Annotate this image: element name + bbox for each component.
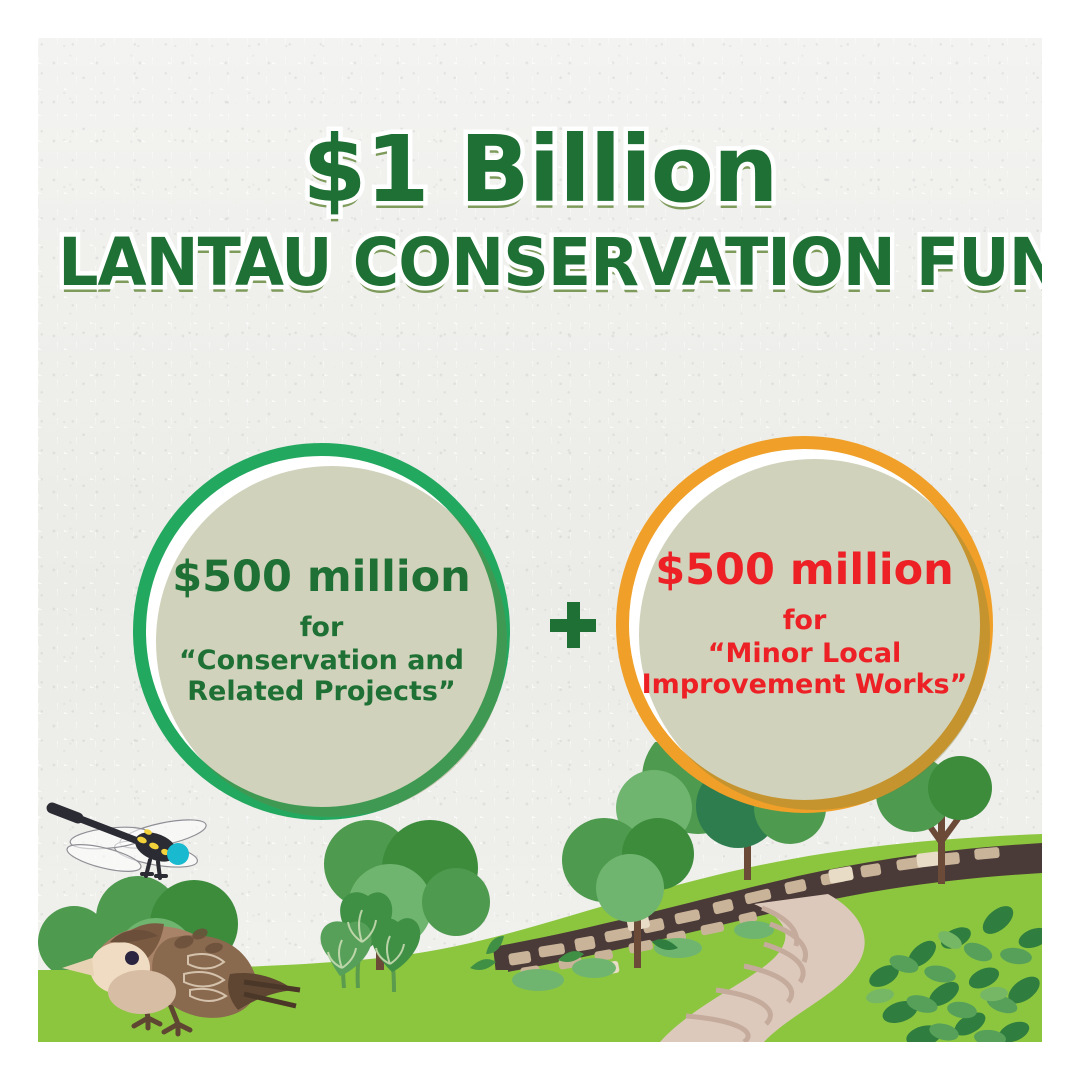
right-connector: for xyxy=(783,606,827,636)
title-line-2: LANTAU CONSERVATION FUND xyxy=(58,230,1022,296)
dragonfly xyxy=(52,808,208,878)
right-purpose-line-2: Improvement Works” xyxy=(642,669,968,701)
plus-icon xyxy=(550,602,596,648)
title-line-1: $1 Billion xyxy=(38,124,1042,216)
allocation-circle-minor-works[interactable]: $500 million for “Minor Local Improvemen… xyxy=(616,436,993,813)
poster-root: $1 Billion $1 Billion LANTAU CONSERVATIO… xyxy=(0,0,1080,1080)
right-purpose-line-1: “Minor Local xyxy=(708,638,902,670)
left-connector: for xyxy=(300,613,344,643)
title-line-2-wrapper: LANTAU CONSERVATION FUND LANTAU CONSERVA… xyxy=(38,230,1042,296)
allocation-circle-conservation[interactable]: $500 million for “Conservation and Relat… xyxy=(133,443,510,820)
title-line-1-wrapper: $1 Billion $1 Billion xyxy=(38,124,1042,216)
title-block: $1 Billion $1 Billion LANTAU CONSERVATIO… xyxy=(38,124,1042,296)
left-purpose-line-2: Related Projects” xyxy=(187,676,455,708)
paper-background: $1 Billion $1 Billion LANTAU CONSERVATIO… xyxy=(38,38,1042,1042)
left-purpose-line-1: “Conservation and xyxy=(179,645,464,677)
left-amount: $500 million xyxy=(172,555,471,600)
right-amount: $500 million xyxy=(655,548,954,593)
